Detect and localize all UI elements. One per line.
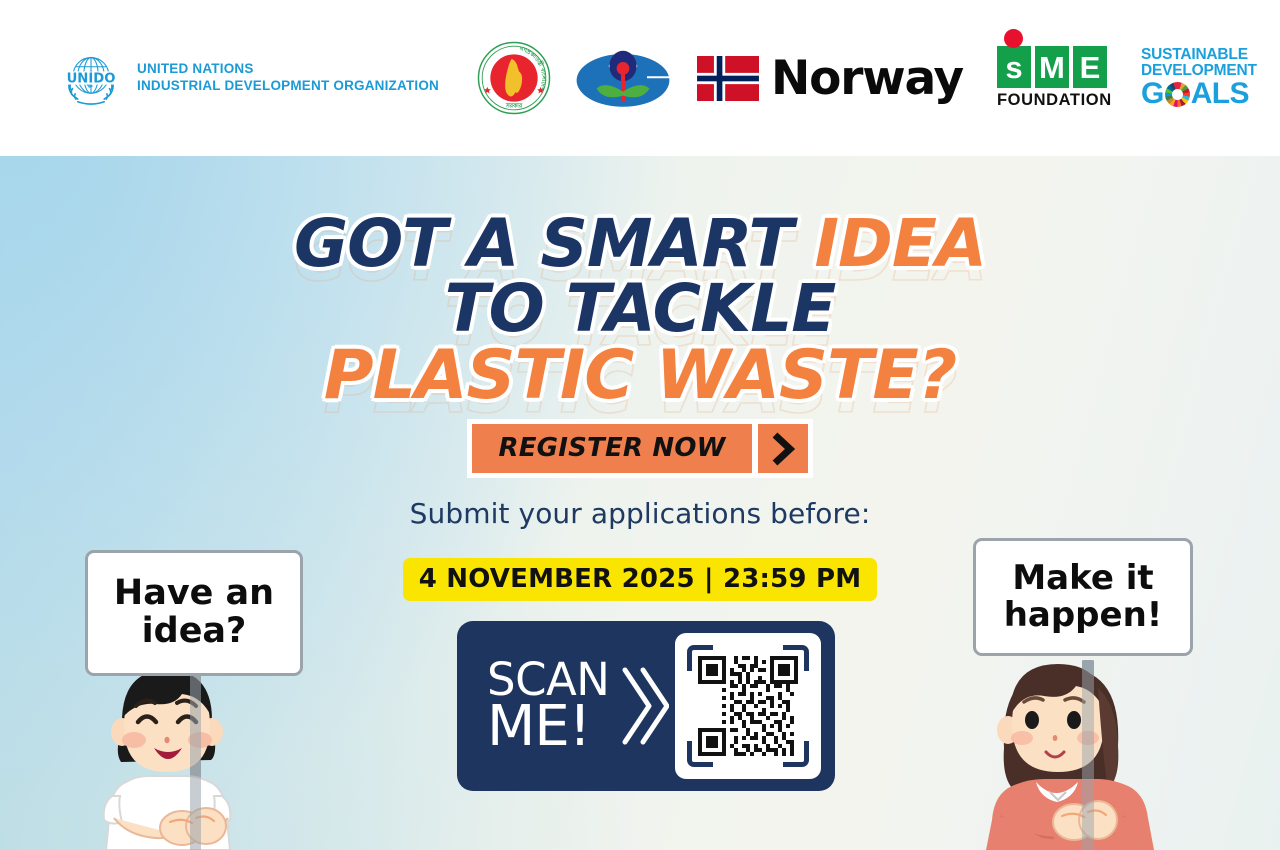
placard-left: Have an idea? — [85, 550, 303, 676]
character-right: Make it happen! — [960, 538, 1222, 850]
placard-right-line-2: happen! — [1004, 595, 1163, 635]
sdg-goals-als: ALS — [1191, 79, 1249, 109]
header-logo-bar: UNIDO UNITED NATIONS INDUSTRIAL DEVELOPM… — [0, 0, 1280, 156]
sdg-line-3: G ALS — [1141, 79, 1257, 109]
sme-foundation-wordmark: FOUNDATION — [997, 91, 1109, 110]
unido-line-2: INDUSTRIAL DEVELOPMENT ORGANIZATION — [137, 78, 439, 95]
headline-to-tackle: TO TACKLE — [445, 270, 836, 347]
character-left: Have an idea? — [78, 550, 328, 850]
bangladesh-government-seal-icon: গণপ্রজাতন্ত্রী বাংলাদেশ সরকার — [477, 41, 551, 115]
placard-left-text: Have an idea? — [114, 575, 274, 651]
placard-right-line-1: Make it — [1012, 558, 1153, 598]
scan-line-2: ME! — [487, 701, 609, 754]
sdg-goals-g: G — [1141, 79, 1164, 109]
headline-line-2-text: TO TACKLE — [0, 279, 1280, 340]
page-title: GOT A SMART IDEA GOT A SMART IDEA TO TAC… — [0, 214, 1280, 408]
placard-right-text: Make it happen! — [1004, 560, 1163, 633]
sme-letter-squares: s M E — [997, 46, 1109, 88]
register-button-area: REGISTER NOW — [0, 419, 1280, 478]
sme-foundation-logo: s M E FOUNDATION — [997, 46, 1109, 110]
placard-left-line-2: idea? — [142, 611, 247, 651]
logo-row: UNIDO UNITED NATIONS INDUSTRIAL DEVELOPM… — [0, 0, 1280, 156]
norway-wordmark: Norway — [771, 51, 963, 106]
headline-line-3: PLASTIC WASTE? PLASTIC WASTE? — [0, 345, 1280, 408]
headline-line-1: GOT A SMART IDEA GOT A SMART IDEA — [0, 214, 1280, 275]
sme-letter-m: M — [1035, 46, 1069, 88]
register-arrow-button[interactable] — [758, 424, 808, 473]
unido-logo: UNIDO UNITED NATIONS INDUSTRIAL DEVELOPM… — [58, 45, 439, 111]
sme-letter-e: E — [1073, 46, 1107, 88]
hero-section: GOT A SMART IDEA GOT A SMART IDEA TO TAC… — [0, 156, 1280, 850]
svg-text:সরকার: সরকার — [505, 103, 523, 110]
scan-me-panel[interactable]: SCAN ME! — [457, 621, 835, 791]
placard-right: Make it happen! — [973, 538, 1193, 656]
chevron-right-icon — [770, 432, 796, 466]
norway-logo: Norway — [697, 51, 963, 106]
qr-bracket-top-right-icon — [783, 645, 809, 671]
sme-red-dot-icon — [1004, 29, 1023, 48]
headline-line-3-text: PLASTIC WASTE? — [0, 345, 1280, 408]
register-now-button[interactable]: REGISTER NOW — [472, 424, 751, 473]
qr-bracket-top-left-icon — [687, 645, 713, 671]
placard-left-line-1: Have an — [114, 573, 274, 613]
ministry-oval-logo-icon — [575, 42, 671, 114]
scan-me-text: SCAN ME! — [471, 659, 613, 754]
double-chevron-right-icon — [619, 658, 669, 754]
sdg-line-1: SUSTAINABLE — [1141, 47, 1257, 63]
headline-plastic-waste: PLASTIC WASTE? — [324, 336, 957, 415]
qr-bracket-bottom-right-icon — [783, 741, 809, 767]
qr-code-card[interactable] — [675, 633, 821, 779]
norway-flag-icon — [697, 56, 759, 101]
unido-emblem-icon: UNIDO — [58, 45, 124, 111]
sdg-line-2: DEVELOPMENT — [1141, 63, 1257, 79]
headline-idea: IDEA — [814, 205, 986, 282]
headline-line-1-text: GOT A SMART IDEA — [0, 214, 1280, 275]
status-badge: 4 NOVEMBER 2025 | 23:59 PM — [403, 558, 878, 601]
sme-letter-s: s — [997, 46, 1031, 88]
sdg-logo: SUSTAINABLE DEVELOPMENT G ALS — [1141, 47, 1257, 109]
deadline-label: Submit your applications before: — [0, 497, 1280, 530]
sdg-color-wheel-icon — [1165, 82, 1190, 107]
svg-text:UNIDO: UNIDO — [67, 72, 116, 87]
register-button-group[interactable]: REGISTER NOW — [467, 419, 812, 478]
qr-bracket-bottom-left-icon — [687, 741, 713, 767]
unido-line-1: UNITED NATIONS — [137, 61, 439, 78]
unido-wordmark: UNITED NATIONS INDUSTRIAL DEVELOPMENT OR… — [137, 61, 439, 95]
headline-line-2: TO TACKLE TO TACKLE — [0, 279, 1280, 340]
